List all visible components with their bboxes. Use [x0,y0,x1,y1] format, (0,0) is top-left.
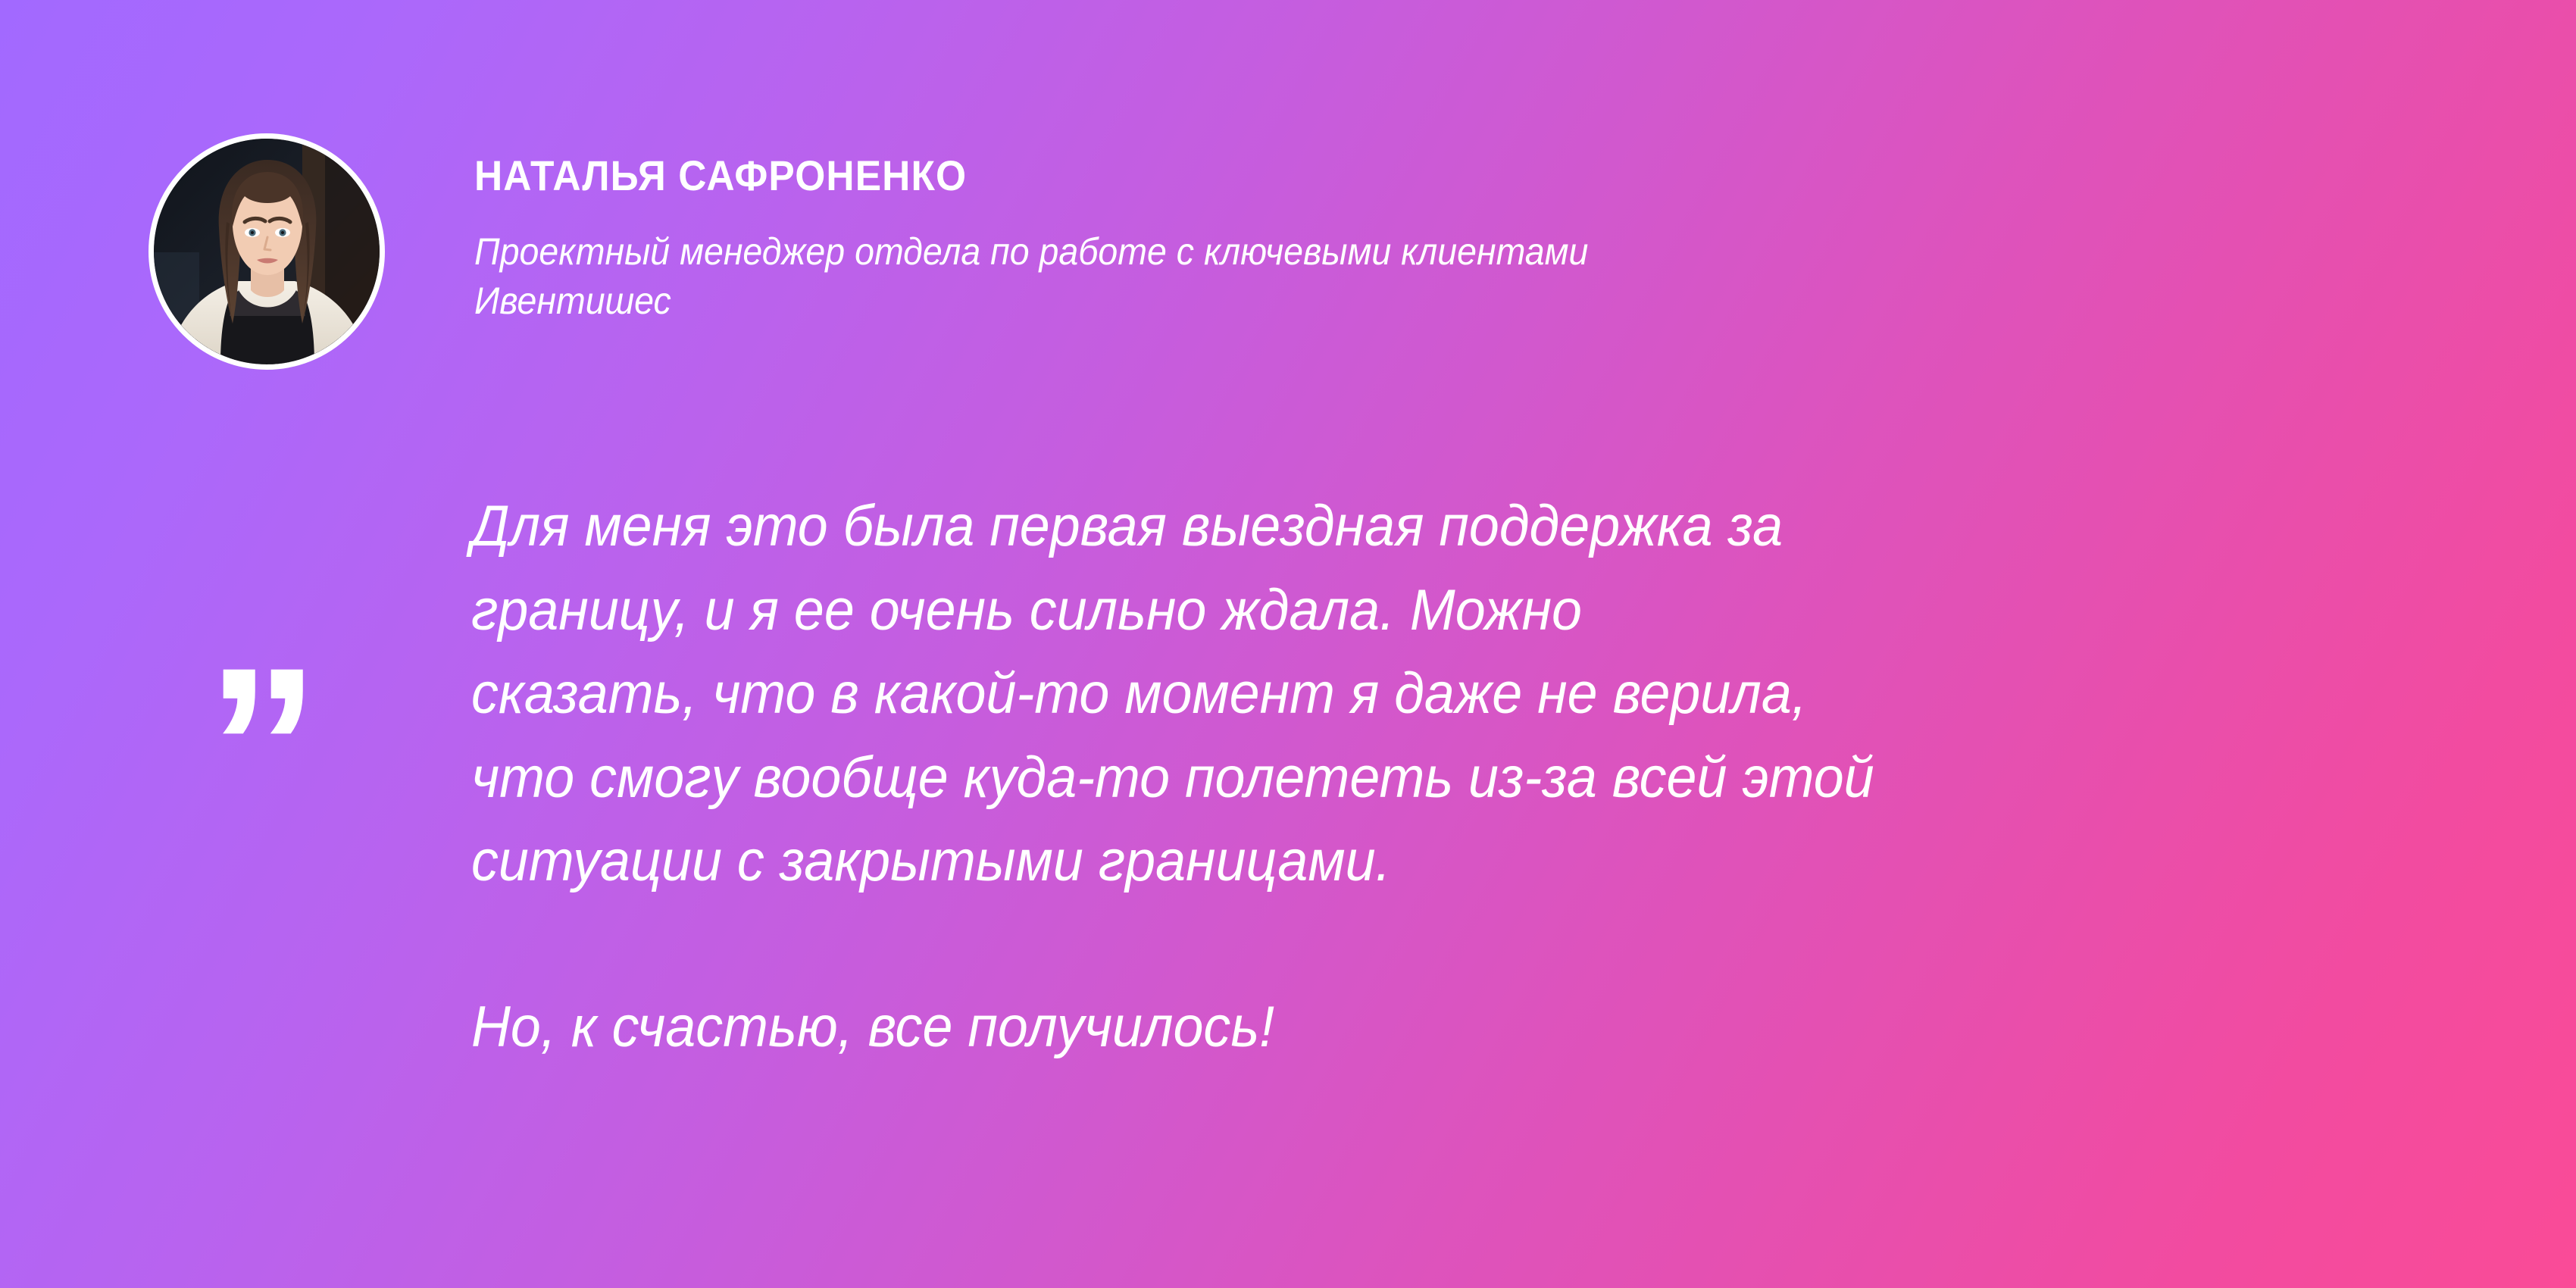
quote-line: границу, и я ее очень сильно ждала. Можн… [471,569,2418,653]
quote-line: что смогу вообще куда-то полететь из-за … [471,736,2418,821]
quote-mark-icon: ” [206,633,317,861]
quote-line: сказать, что в какой-то момент я даже не… [471,652,2418,736]
author-name: НАТАЛЬЯ САФРОНЕНКО [474,155,2287,197]
quote-paragraph: Для меня это была первая выездная поддер… [471,485,2418,904]
quote-line: Для меня это была первая выездная поддер… [471,485,2418,569]
quote-text: Для меня это была первая выездная поддер… [471,485,2418,1069]
avatar-photo [154,139,380,364]
portrait-illustration [154,139,380,364]
quote-line: Но, к счастью, все получилось! [471,986,2418,1070]
author-role: Проектный менеджер отдела по работе с кл… [474,227,2377,326]
author-role-line-2: Ивентишес [474,280,671,322]
author-role-line-1: Проектный менеджер отдела по работе с кл… [474,230,1588,273]
author-header: НАТАЛЬЯ САФРОНЕНКО Проектный менеджер от… [148,133,2459,383]
quote-line: ситуации с закрытыми границами. [471,820,2418,904]
quote-paragraph: Но, к счастью, все получилось! [471,986,2418,1070]
author-text-block: НАТАЛЬЯ САФРОНЕНКО Проектный менеджер от… [474,155,2444,326]
testimonial-card: НАТАЛЬЯ САФРОНЕНКО Проектный менеджер от… [0,0,2576,1288]
avatar [148,133,385,370]
